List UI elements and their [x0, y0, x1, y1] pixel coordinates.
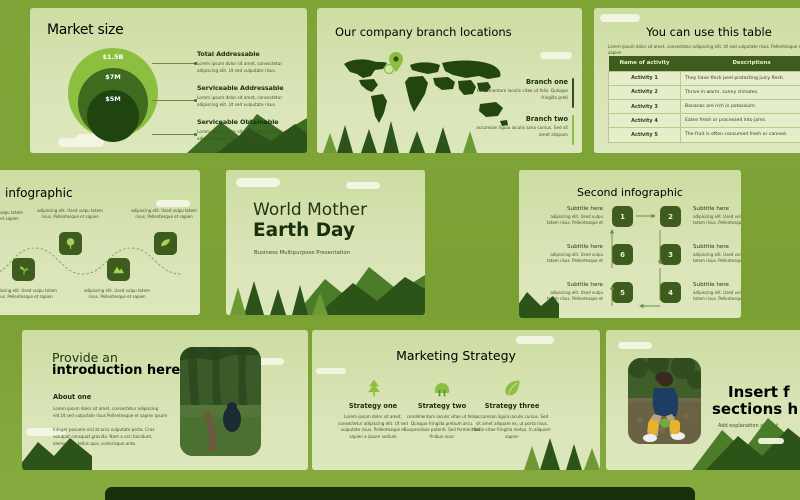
mountain-icon — [112, 263, 125, 276]
slide-infographic[interactable]: infographic adipiscing elit. Used vulpu … — [0, 170, 200, 315]
cloud-shape — [156, 200, 190, 207]
table-cell-activity: Activity 3 — [609, 99, 681, 113]
infographic-caption: adipiscing elit. Used vulpu totem risus.… — [0, 210, 27, 222]
tree-icon — [64, 237, 77, 250]
slide-table[interactable]: You can use this table Lorem ipsum dolor… — [594, 8, 800, 153]
branch-bar — [572, 115, 574, 145]
mountain-illustration — [519, 284, 559, 318]
strategy-title: Strategy two — [403, 402, 481, 410]
table-cell-activity: Activity 5 — [609, 128, 681, 142]
pine-trees-illustration — [510, 426, 600, 470]
intro-paragraph-1: Lorem ipsum dolor sit amet, consectetur … — [53, 406, 171, 420]
slide-insert-sections[interactable]: Insert f sections h Add explanation abou… — [606, 330, 800, 470]
infographic-node-leaf[interactable] — [154, 232, 177, 255]
strategy-item-two: Strategy two condimentum iaculis vitae u… — [403, 402, 481, 440]
table-cell-desc: Thrive in warm, sunny climates. — [681, 85, 800, 99]
flow-item-desc: adipiscing elit. Used vulpu totem risus.… — [541, 252, 603, 264]
branch-name: Branch one — [476, 78, 568, 86]
flow-right-item-2: Subtitle here adipiscing elit. Used vulp… — [693, 244, 741, 264]
cloud-shape — [758, 438, 784, 444]
flow-right-item-3: Subtitle here adipiscing elit. Used vulp… — [693, 282, 741, 302]
flow-item-title: Subtitle here — [541, 244, 603, 250]
table-row[interactable]: Activity 1They have thick peel protectin… — [609, 71, 800, 85]
market-item-desc: Lorem ipsum dolor sit amet, consectetur … — [197, 129, 299, 142]
market-circle-inner: $5M — [87, 90, 139, 142]
branch-desc: accumsan ligula iaculis sana cursus. Sed… — [476, 125, 568, 138]
flow-item-title: Subtitle here — [693, 206, 741, 212]
intro-line-two: introduction here — [52, 363, 180, 378]
flow-left-item-2: Subtitle here adipiscing elit. Used vulp… — [541, 244, 603, 264]
table-cell-desc: The fruit is often consumed fresh or can… — [681, 128, 800, 142]
bush-icon — [432, 378, 452, 398]
cloud-shape — [516, 336, 554, 344]
table-subtitle: Lorem ipsum dolor sit amet, consectetur … — [608, 44, 800, 56]
page-title: Market size — [47, 22, 123, 38]
cloud-shape — [346, 182, 380, 189]
infographic-node-mountain[interactable] — [107, 258, 130, 281]
slide-second-infographic[interactable]: Second infographic 1 2 6 3 5 4 Subtitle … — [519, 170, 741, 318]
table-cell-activity: Activity 4 — [609, 114, 681, 128]
page-title: Second infographic — [519, 186, 741, 199]
branch-desc: Condimentum iaculis vitae ut felis. Quis… — [476, 88, 568, 101]
table-header-name: Name of activity — [609, 56, 681, 71]
market-item-total-addressable: Total Addressable Lorem ipsum dolor sit … — [197, 50, 299, 74]
forest-photo-illustration — [180, 347, 261, 456]
market-item-desc: Lorem ipsum dolor sit amet, consectetur … — [197, 95, 299, 108]
cloud-shape — [316, 368, 346, 374]
flow-left-item-1: Subtitle here adipiscing elit. Used vulp… — [541, 206, 603, 226]
strategy-item-one: Strategy one Lorem ipsum dolor sit amet,… — [334, 402, 412, 440]
leader-line — [152, 63, 196, 64]
branch-item-one: Branch one Condimentum iaculis vitae ut … — [476, 78, 568, 101]
flow-right-item-1: Subtitle here adipiscing elit. Used vulp… — [693, 206, 741, 226]
table-header-row: Name of activity Descriptions — [609, 56, 800, 71]
infographic-node-tree[interactable] — [59, 232, 82, 255]
branch-name: Branch two — [476, 115, 568, 123]
insert-line-one: Insert f — [728, 383, 790, 401]
market-item-desc: Lorem ipsum dolor sit amet, consectetur … — [197, 61, 299, 74]
branch-bar — [572, 78, 574, 108]
slide-marketing-strategy[interactable]: Marketing Strategy Strategy one Lorem ip… — [312, 330, 600, 470]
page-title: Our company branch locations — [335, 25, 512, 39]
table-row[interactable]: Activity 3Bananas are rich in potassium. — [609, 99, 800, 113]
table-cell-desc: Eaten fresh or processed into jams. — [681, 114, 800, 128]
table-row[interactable]: Activity 2Thrive in warm, sunny climates… — [609, 85, 800, 99]
leaf-icon — [159, 237, 172, 250]
leader-line — [152, 100, 196, 101]
flow-item-desc: adipiscing elit. Used vulpu totem risus.… — [541, 214, 603, 226]
table-header-desc: Descriptions — [681, 56, 800, 71]
intro-photo[interactable] — [180, 347, 261, 456]
branch-item-two: Branch two accumsan ligula iaculis sana … — [476, 115, 568, 138]
slide-branch-locations[interactable]: Our company branch locations — [317, 8, 582, 153]
cloud-shape — [540, 52, 572, 59]
page-title: infographic — [5, 186, 73, 200]
map-pin-icon[interactable] — [389, 52, 403, 72]
flow-item-desc: adipiscing elit. Used vulpu totem risus.… — [693, 290, 741, 302]
strategy-desc: Lorem ipsum dolor sit amet, consectetur … — [334, 414, 412, 440]
strategy-desc: condimentum iaculis vitae ut felis. Quis… — [403, 414, 481, 440]
market-item-title: Serviceable Obtainable — [197, 118, 299, 126]
slide-market-size[interactable]: Market size $1.5B $7M $5M Total Addressa… — [30, 8, 307, 153]
intro-heading: About one — [53, 393, 91, 401]
pine-tree-icon — [364, 378, 384, 398]
page-title: Marketing Strategy — [312, 348, 600, 363]
infographic-caption: adipiscing elit. Used vulpu totem risus.… — [127, 208, 200, 220]
table-cell-activity: Activity 2 — [609, 85, 681, 99]
table-cell-desc: Bananas are rich in potassium. — [681, 99, 800, 113]
title-subtitle: Business Multipurpose Presentation — [254, 250, 350, 256]
table-row[interactable]: Activity 5The fruit is often consumed fr… — [609, 128, 800, 142]
sprout-icon — [18, 264, 30, 276]
flow-item-title: Subtitle here — [693, 282, 741, 288]
market-value-inner: $5M — [105, 95, 121, 142]
market-item-serviceable-obtainable: Serviceable Obtainable Lorem ipsum dolor… — [197, 118, 299, 142]
title-line-two: Earth Day — [253, 220, 355, 241]
leader-line — [152, 134, 196, 135]
strategy-title: Strategy one — [334, 402, 412, 410]
strategy-title: Strategy three — [473, 402, 551, 410]
bottom-bar — [105, 487, 695, 500]
infographic-caption: adipiscing elit. Used vulpu totem risus.… — [0, 288, 61, 300]
market-item-title: Total Addressable — [197, 50, 299, 58]
activity-table[interactable]: Name of activity Descriptions Activity 1… — [608, 56, 800, 143]
table-cell-activity: Activity 1 — [609, 71, 681, 85]
infographic-caption: adipiscing elit. Used vulpu totem risus.… — [33, 208, 107, 220]
market-item-title: Serviceable Addressable — [197, 84, 299, 92]
cloud-shape — [236, 178, 280, 187]
title-line-one: World Mother — [253, 200, 367, 220]
person-planting-photo-illustration — [628, 358, 701, 444]
flow-item-title: Subtitle here — [541, 206, 603, 212]
flow-item-title: Subtitle here — [693, 244, 741, 250]
flow-arrows — [609, 202, 689, 312]
slide-introduction[interactable]: Provide an introduction here About one L… — [22, 330, 308, 470]
infographic-node-sprout[interactable] — [12, 258, 35, 281]
pine-trees-illustration — [226, 267, 336, 315]
cloud-shape — [600, 14, 640, 22]
mountain-illustration — [22, 430, 92, 470]
cloud-shape — [618, 342, 652, 349]
flow-item-desc: adipiscing elit. Used vulpu totem risus.… — [693, 252, 741, 264]
insert-photo[interactable] — [628, 358, 701, 444]
table-cell-desc: They have thick peel protecting juicy fl… — [681, 71, 800, 85]
slide-title[interactable]: World Mother Earth Day Business Multipur… — [226, 170, 425, 315]
table-row[interactable]: Activity 4Eaten fresh or processed into … — [609, 114, 800, 128]
flow-item-desc: adipiscing elit. Used vulpu totem risus.… — [693, 214, 741, 226]
market-item-serviceable-addressable: Serviceable Addressable Lorem ipsum dolo… — [197, 84, 299, 108]
leaf-icon — [502, 378, 522, 398]
infographic-caption: adipiscing elit. Used vulpu totem risus.… — [80, 288, 154, 300]
page-title: You can use this table — [594, 25, 800, 39]
